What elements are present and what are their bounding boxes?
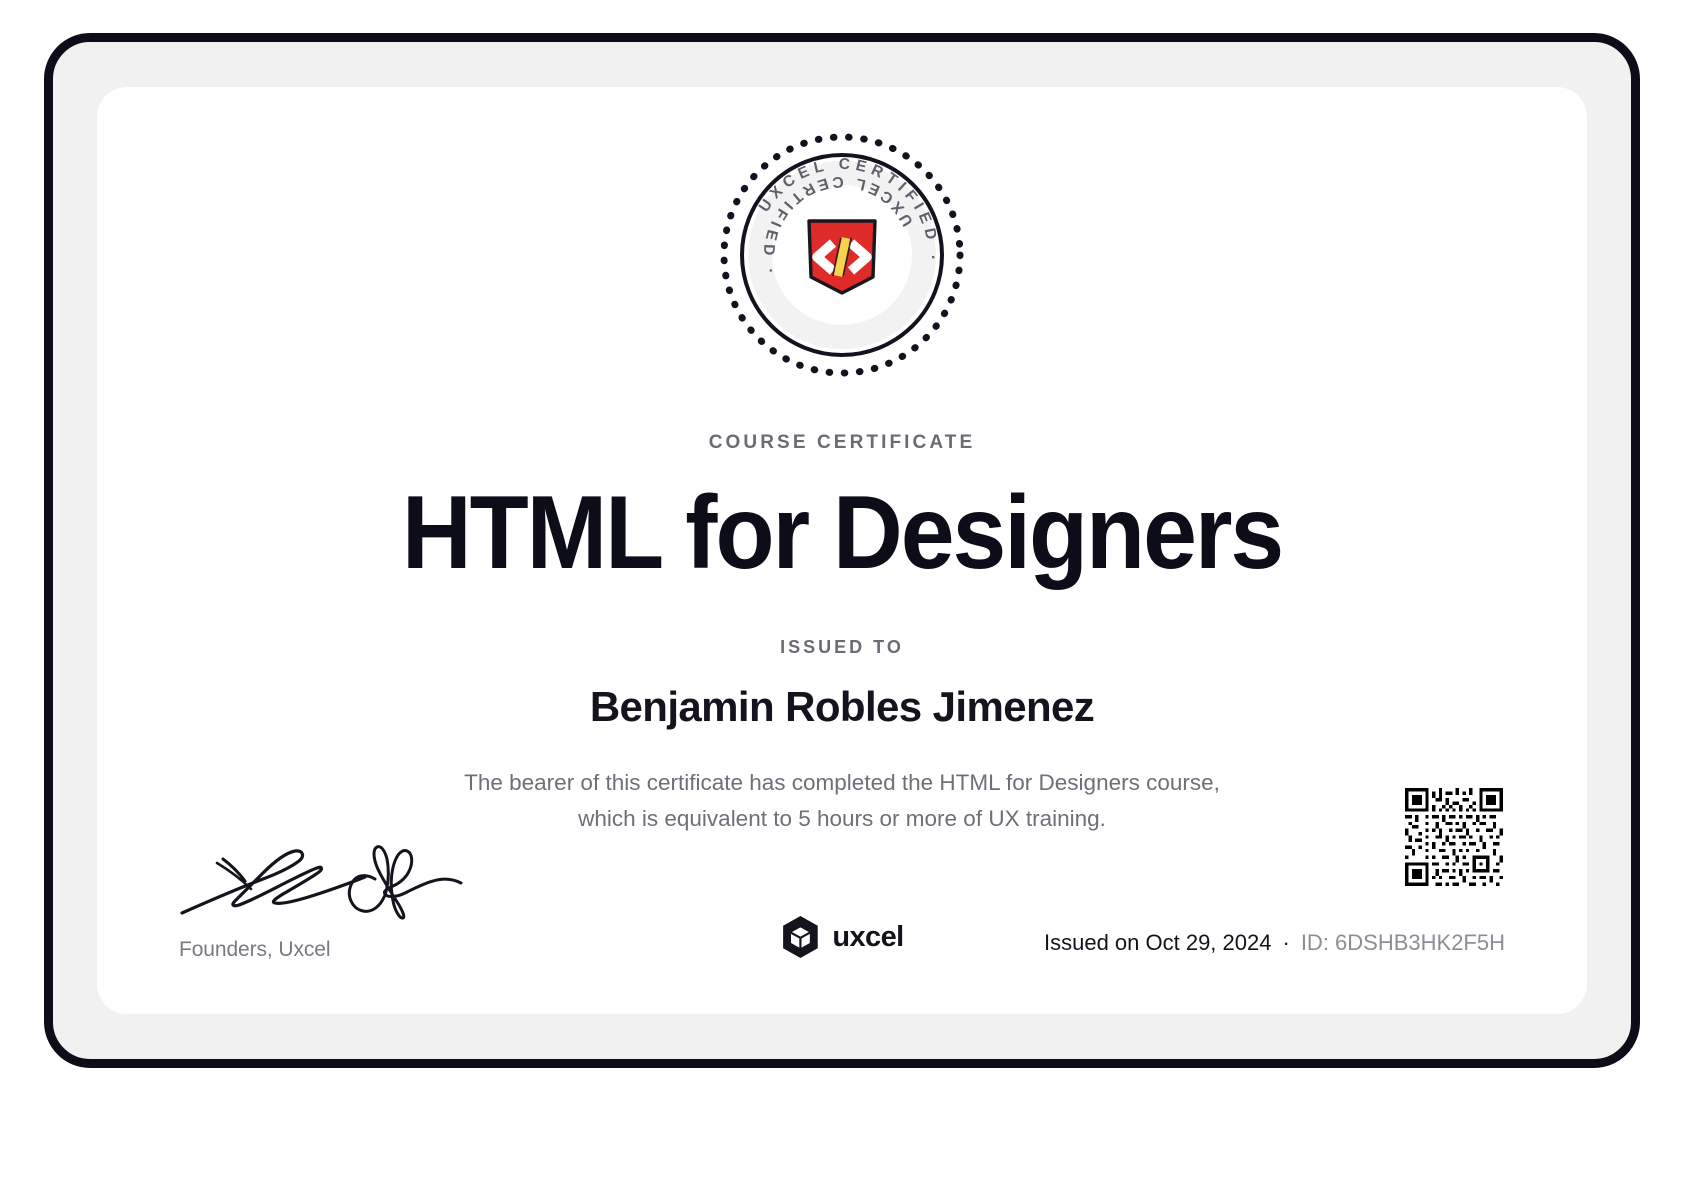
- uxcel-brand-logo: uxcel: [780, 915, 903, 959]
- certificate-card: UXCEL CERTIFIED · UXCEL CERTIFIED ·: [97, 87, 1587, 1014]
- certificate-description: The bearer of this certificate has compl…: [97, 765, 1587, 838]
- page-title: HTML for Designers: [149, 477, 1535, 589]
- issued-date: Issued on Oct 29, 2024: [1044, 930, 1272, 956]
- certificate-id: ID: 6DSHB3HK2F5H: [1301, 930, 1505, 956]
- uxcel-certified-seal-icon: UXCEL CERTIFIED · UXCEL CERTIFIED ·: [714, 127, 970, 383]
- description-line-2: which is equivalent to 5 hours or more o…: [97, 801, 1587, 837]
- eyebrow-issued-to: ISSUED TO: [97, 637, 1587, 658]
- founders-signature-icon: [179, 839, 469, 924]
- uxcel-wordmark: uxcel: [832, 921, 903, 954]
- signature-caption: Founders, Uxcel: [179, 938, 599, 962]
- certificate-frame: UXCEL CERTIFIED · UXCEL CERTIFIED ·: [44, 33, 1640, 1068]
- signature-block: Founders, Uxcel: [179, 839, 599, 962]
- eyebrow-course-certificate: COURSE CERTIFICATE: [97, 432, 1587, 454]
- meta-separator: ·: [1282, 930, 1289, 956]
- recipient-name: Benjamin Robles Jimenez: [97, 683, 1587, 731]
- qr-code-icon: [1405, 788, 1503, 886]
- certificate-meta: Issued on Oct 29, 2024 · ID: 6DSHB3HK2F5…: [1044, 930, 1505, 956]
- description-line-1: The bearer of this certificate has compl…: [97, 765, 1587, 801]
- uxcel-cube-icon: [780, 915, 820, 959]
